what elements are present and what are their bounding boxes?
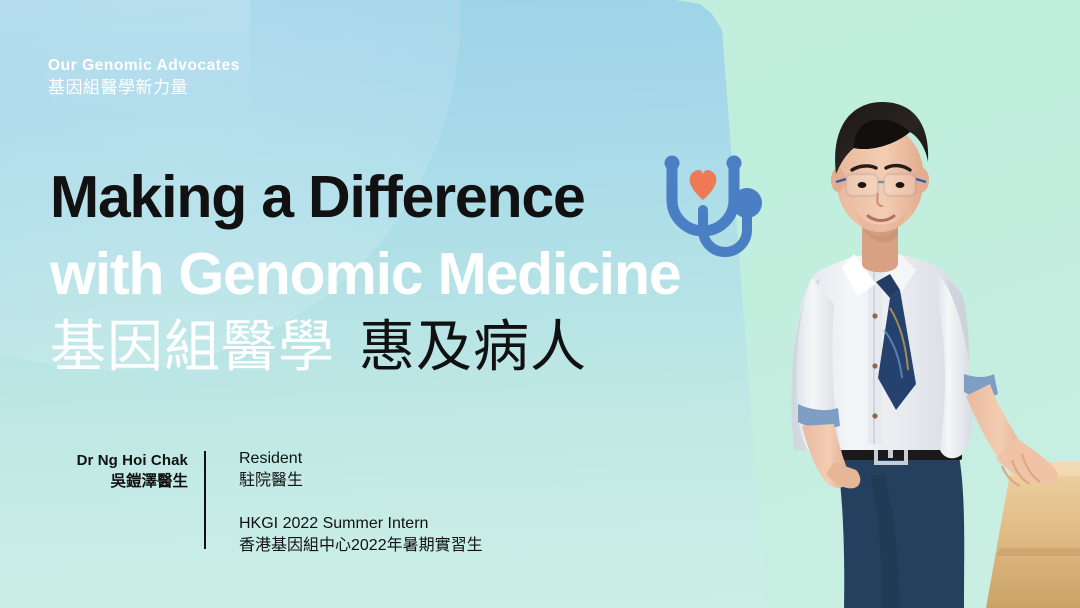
- headline-chinese: 基因組醫學惠及病人: [50, 316, 680, 379]
- presenter-affiliations: Resident 駐院醫生 HKGI 2022 Summer Intern 香港…: [206, 448, 483, 558]
- presenter-portrait: [750, 78, 1080, 608]
- page-title: Making a Difference with Genomic Medicin…: [50, 168, 680, 379]
- headline-line-2: with Genomic Medicine: [50, 245, 680, 304]
- credits-spacer: [239, 493, 483, 513]
- presenter-name-chinese: 吳鎧澤醫生: [48, 471, 188, 493]
- presenter-name-english: Dr Ng Hoi Chak: [48, 450, 188, 471]
- headline-chinese-white: 基因組醫學: [50, 315, 335, 378]
- kicker-chinese: 基因組醫學新力量: [48, 77, 240, 99]
- presenter-name: Dr Ng Hoi Chak 吳鎧澤醫生: [48, 448, 204, 493]
- kicker-block: Our Genomic Advocates 基因組醫學新力量: [48, 56, 240, 99]
- presenter-internship-english: HKGI 2022 Summer Intern: [239, 513, 483, 535]
- presenter-internship-chinese: 香港基因組中心2022年暑期實習生: [239, 535, 483, 557]
- right-arm: [936, 272, 1058, 486]
- presenter-role-english: Resident: [239, 448, 483, 470]
- presenter-head: [831, 102, 929, 236]
- presenter-title-card: Our Genomic Advocates 基因組醫學新力量 Making a …: [0, 0, 1080, 608]
- heart-icon: [690, 170, 717, 200]
- headline-chinese-dark: 惠及病人: [359, 315, 587, 378]
- credits-block: Dr Ng Hoi Chak 吳鎧澤醫生 Resident 駐院醫生 HKGI …: [48, 448, 483, 558]
- presenter-role-chinese: 駐院醫生: [239, 470, 483, 492]
- desk: [986, 462, 1080, 608]
- headline-line-1: Making a Difference: [50, 168, 680, 227]
- kicker-english: Our Genomic Advocates: [48, 56, 240, 76]
